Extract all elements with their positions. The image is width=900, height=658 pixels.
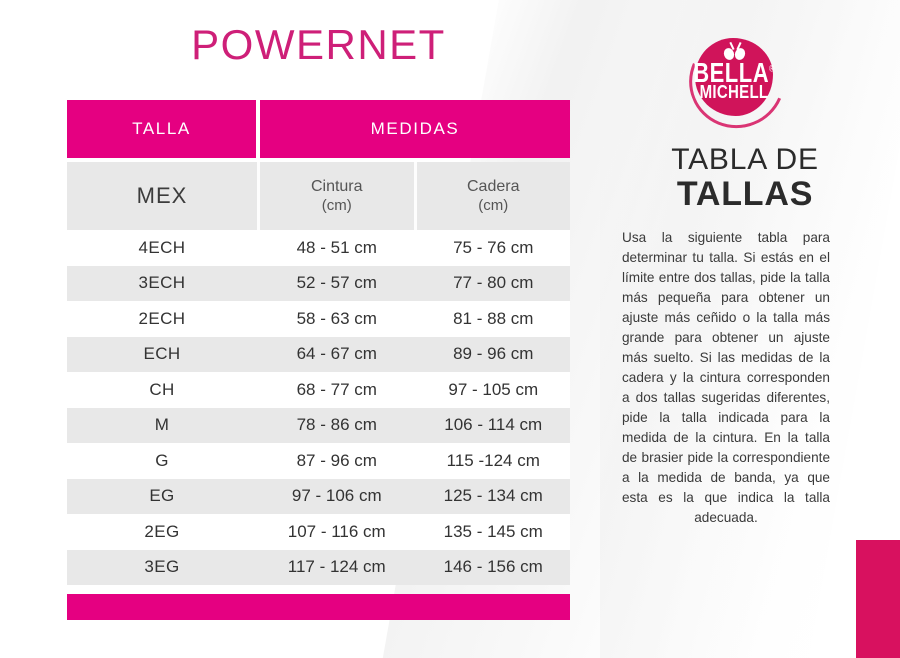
table-row: 3EG117 - 124 cm146 - 156 cm [67,550,570,586]
right-panel-heading: TABLA DE TALLAS [600,144,890,213]
size-chart-page: POWERNET TALLA MEDIDAS MEX Cintura (cm) … [0,0,900,658]
group-header-medidas: MEDIDAS [260,100,570,158]
size-table: TALLA MEDIDAS MEX Cintura (cm) Cadera (c… [67,100,570,585]
table-row: 2ECH58 - 63 cm81 - 88 cm [67,301,570,337]
cell-cadera: 89 - 96 cm [417,344,571,364]
cell-cintura: 48 - 51 cm [260,238,414,258]
table-row: M78 - 86 cm106 - 114 cm [67,408,570,444]
cell-size: 2EG [67,522,257,542]
table-group-header-row: TALLA MEDIDAS [67,100,570,158]
cell-size: M [67,415,257,435]
column-header-cadera: Cadera (cm) [417,162,571,230]
logo-brand-bottom: MICHELL [688,83,780,102]
instructions-paragraph: Usa la siguiente tabla para determinar t… [622,228,830,528]
table-row: G87 - 96 cm115 -124 cm [67,443,570,479]
group-header-talla: TALLA [67,100,256,158]
column-header-mex-label: MEX [137,183,188,209]
column-header-cadera-label: Cadera [467,177,519,197]
cell-size: 4ECH [67,238,257,258]
logo-registered-mark: ® [769,65,775,74]
cell-size: G [67,451,257,471]
cell-cintura: 78 - 86 cm [260,415,414,435]
cell-cadera: 81 - 88 cm [417,309,571,329]
table-footer-bar [67,594,570,620]
cell-cintura: 107 - 116 cm [260,522,414,542]
cell-cintura: 58 - 63 cm [260,309,414,329]
column-header-cintura-unit: (cm) [322,197,352,216]
page-title: POWERNET [67,24,570,66]
table-row: CH68 - 77 cm97 - 105 cm [67,372,570,408]
cell-cintura: 52 - 57 cm [260,273,414,293]
table-row: 4ECH48 - 51 cm75 - 76 cm [67,230,570,266]
cell-cadera: 125 - 134 cm [417,486,571,506]
table-row: 3ECH52 - 57 cm77 - 80 cm [67,266,570,302]
column-header-mex: MEX [67,162,257,230]
heading-line-2: TALLAS [600,176,890,213]
corner-accent [856,540,900,658]
cell-cintura: 68 - 77 cm [260,380,414,400]
table-body: 4ECH48 - 51 cm75 - 76 cm3ECH52 - 57 cm77… [67,230,570,585]
heading-line-1: TABLA DE [600,144,890,176]
cell-cintura: 87 - 96 cm [260,451,414,471]
cell-cadera: 135 - 145 cm [417,522,571,542]
column-header-cintura-label: Cintura [311,177,363,197]
table-row: EG97 - 106 cm125 - 134 cm [67,479,570,515]
cell-size: CH [67,380,257,400]
cell-cintura: 64 - 67 cm [260,344,414,364]
cell-cintura: 117 - 124 cm [260,557,414,577]
cell-size: ECH [67,344,257,364]
table-column-header-row: MEX Cintura (cm) Cadera (cm) [67,162,570,230]
table-row: ECH64 - 67 cm89 - 96 cm [67,337,570,373]
column-header-cintura: Cintura (cm) [260,162,414,230]
cell-cadera: 146 - 156 cm [417,557,571,577]
cell-size: 3ECH [67,273,257,293]
cell-size: 2ECH [67,309,257,329]
cell-cadera: 77 - 80 cm [417,273,571,293]
bella-michell-logo: BELLA® MICHELL [688,32,780,124]
cell-cadera: 97 - 105 cm [417,380,571,400]
column-header-cadera-unit: (cm) [478,197,508,216]
cell-cintura: 97 - 106 cm [260,486,414,506]
table-row: 2EG107 - 116 cm135 - 145 cm [67,514,570,550]
cell-size: 3EG [67,557,257,577]
cell-size: EG [67,486,257,506]
cell-cadera: 115 -124 cm [417,451,571,471]
cell-cadera: 106 - 114 cm [417,415,571,435]
cell-cadera: 75 - 76 cm [417,238,571,258]
